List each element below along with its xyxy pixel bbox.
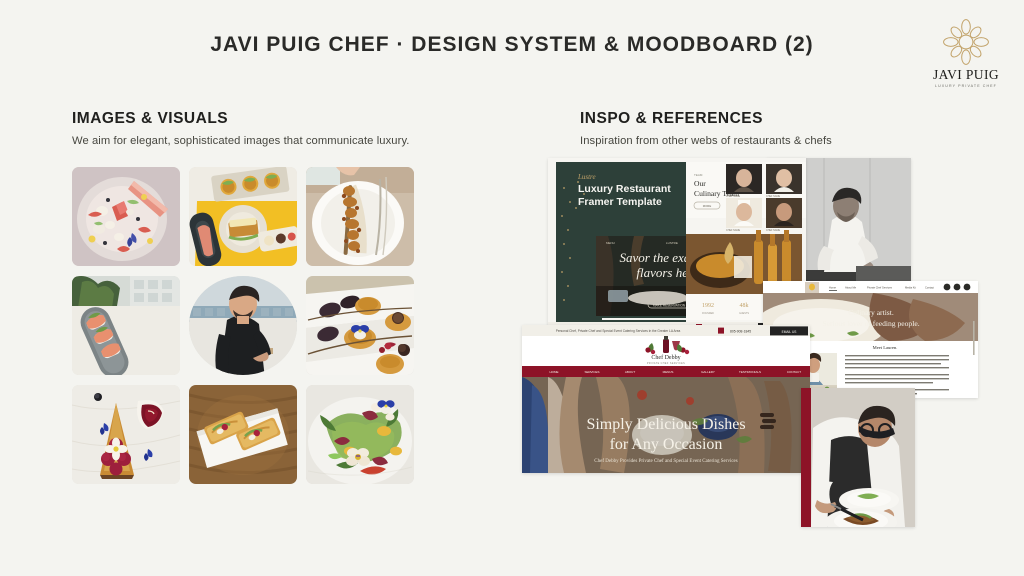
svg-text:Chef Debby: Chef Debby xyxy=(651,354,680,361)
svg-text:Simply Delicious Dishes: Simply Delicious Dishes xyxy=(586,416,745,433)
svg-text:Private Chef Services: Private Chef Services xyxy=(867,286,893,290)
svg-text:Our: Our xyxy=(694,179,706,188)
svg-text:Culinary artist.: Culinary artist. xyxy=(848,308,894,317)
svg-text:GUESTS: GUESTS xyxy=(739,312,749,315)
nigiri-grey-platter xyxy=(72,276,180,375)
svg-text:TESTIMONIALS: TESTIMONIALS xyxy=(739,370,761,374)
section-subheading-images: We aim for elegant, sophisticated images… xyxy=(72,135,410,147)
svg-text:CONTACT: CONTACT xyxy=(787,370,801,374)
desserts-blue-pansy xyxy=(306,276,414,375)
plated-seafood-pink-plate xyxy=(72,167,180,266)
logo-wordmark: JAVI PUIG xyxy=(926,67,1006,83)
svg-text:LUSTRE: LUSTRE xyxy=(666,241,678,245)
image-grid xyxy=(72,167,418,484)
svg-text:CHEF NAME: CHEF NAME xyxy=(766,195,780,198)
inspo-references-header: INSPO & REFERENCES Inspiration from othe… xyxy=(580,110,832,147)
page-title: JAVI PUIG CHEF · DESIGN SYSTEM & MOODBOA… xyxy=(0,33,1024,57)
javi-puig-logo: JAVI PUIG LUXURY PRIVATE CHEF xyxy=(926,18,1006,88)
svg-text:ABOUT: ABOUT xyxy=(625,370,636,374)
svg-text:CHEF NAME: CHEF NAME xyxy=(726,229,740,232)
svg-text:GALLERY: GALLERY xyxy=(701,370,715,374)
svg-text:HOME: HOME xyxy=(550,370,559,374)
section-heading-images: IMAGES & VISUALS xyxy=(72,110,410,128)
svg-text:Luxury Restaurant: Luxury Restaurant xyxy=(578,183,671,195)
svg-text:EMAIL US: EMAIL US xyxy=(782,330,797,334)
logo-tagline: LUXURY PRIVATE CHEF xyxy=(926,84,1006,88)
svg-text:FOUNDED: FOUNDED xyxy=(702,312,714,315)
svg-text:Lustre: Lustre xyxy=(577,173,596,181)
skewer-white-plate xyxy=(306,167,414,266)
svg-text:Meet Lauren.: Meet Lauren. xyxy=(873,345,898,350)
svg-text:MORE: MORE xyxy=(703,204,712,208)
svg-text:Personal Chef, Private Chef an: Personal Chef, Private Chef and Special … xyxy=(556,329,681,333)
chef-plating-reference[interactable] xyxy=(801,388,915,527)
svg-text:Media Kit: Media Kit xyxy=(905,286,916,290)
svg-text:Chef Debby Provides Private Ch: Chef Debby Provides Private Chef and Spe… xyxy=(594,459,737,464)
svg-text:TEAM: TEAM xyxy=(694,173,703,177)
svg-text:MAKE RESERVATION: MAKE RESERVATION xyxy=(653,303,686,307)
section-subheading-inspo: Inspiration from other webs of restauran… xyxy=(580,135,832,147)
svg-text:CHEF NAME: CHEF NAME xyxy=(726,195,740,198)
svg-text:CHEF NAME: CHEF NAME xyxy=(766,229,780,232)
chef-portrait-round xyxy=(189,276,297,375)
svg-text:for Any Occasion: for Any Occasion xyxy=(610,436,723,453)
svg-text:805-908-1845: 805-908-1845 xyxy=(730,329,751,333)
svg-text:About Me: About Me xyxy=(845,286,857,290)
inspo-collage: Lustre Luxury Restaurant Framer Template… xyxy=(520,155,1000,540)
ornamental-flourish-icon xyxy=(926,18,1006,66)
svg-text:SERVICES: SERVICES xyxy=(584,370,599,374)
chef-debby-site[interactable]: Personal Chef, Private Chef and Special … xyxy=(522,325,810,473)
svg-text:MENUS: MENUS xyxy=(663,370,674,374)
flower-salad xyxy=(306,385,414,484)
svg-text:1992: 1992 xyxy=(702,303,714,309)
svg-text:Serious lover of feeding peopl: Serious lover of feeding people. xyxy=(822,319,919,328)
svg-text:Framer Template: Framer Template xyxy=(578,196,662,208)
images-visuals-header: IMAGES & VISUALS We aim for elegant, sop… xyxy=(72,110,410,147)
svg-text:Home: Home xyxy=(829,286,836,290)
svg-text:48k: 48k xyxy=(740,303,749,309)
tartlets-yellow-placemat xyxy=(189,167,297,266)
pastries-white-napkin xyxy=(189,385,297,484)
section-heading-inspo: INSPO & REFERENCES xyxy=(580,110,832,128)
svg-text:MENU: MENU xyxy=(606,241,615,245)
svg-text:PRIVATE CHEF SERVICES: PRIVATE CHEF SERVICES xyxy=(647,362,685,365)
svg-text:Contact: Contact xyxy=(925,286,934,290)
raspberry-tart-triangle xyxy=(72,385,180,484)
